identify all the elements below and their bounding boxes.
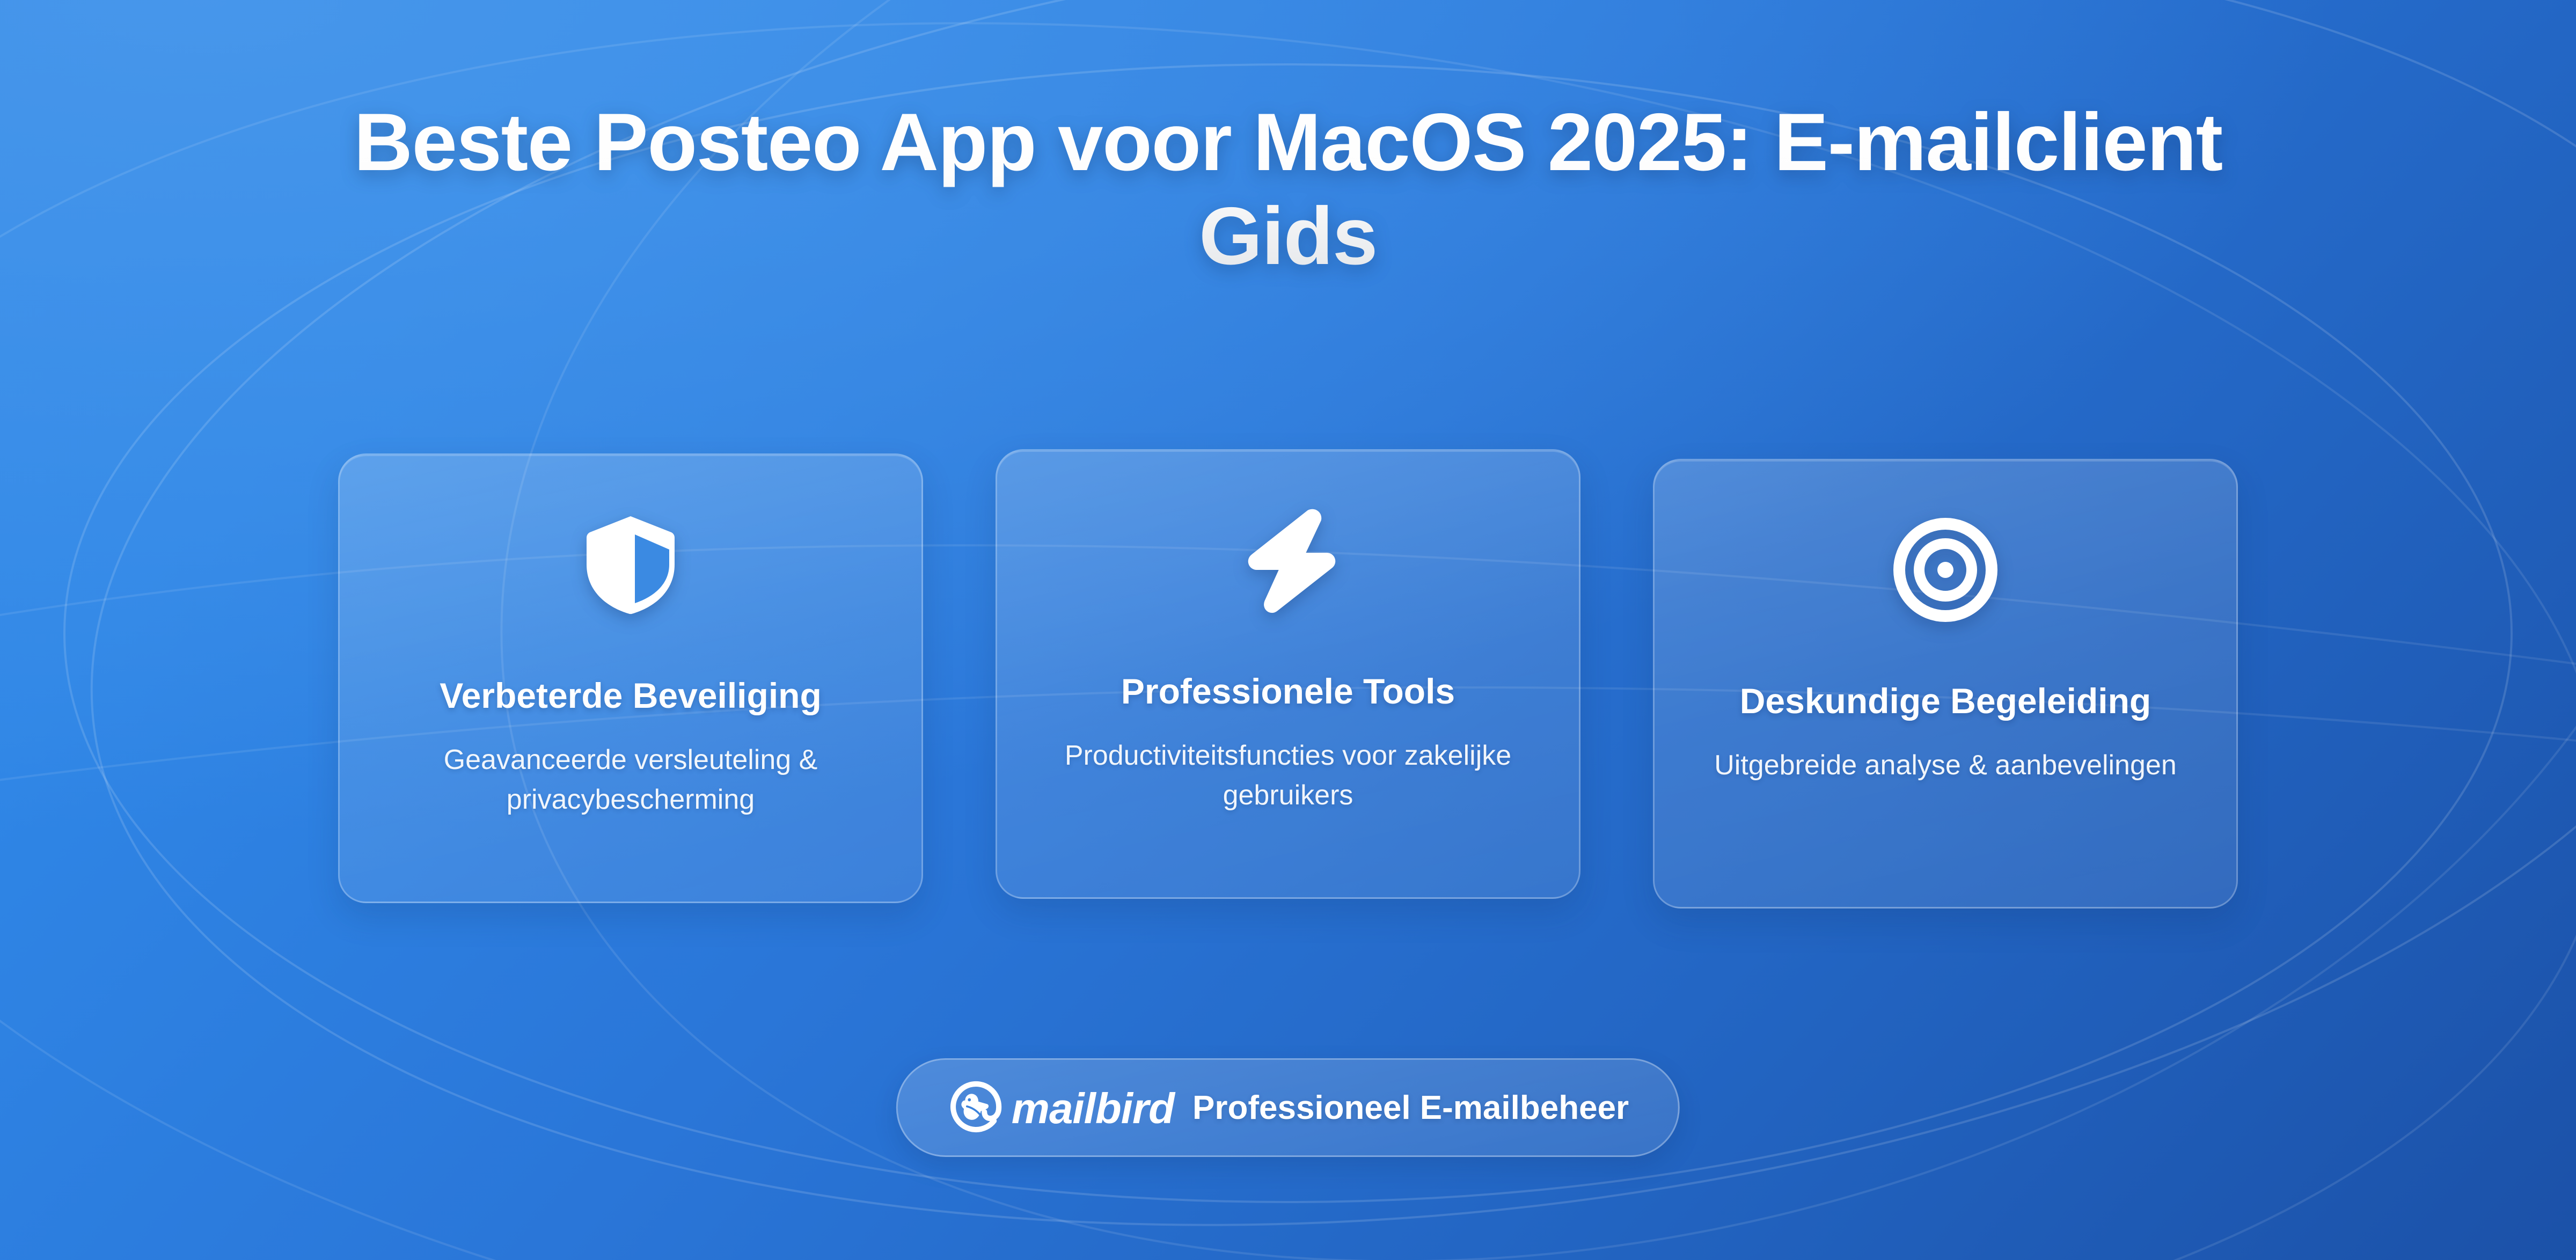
feature-card-description: Geavanceerde versleuteling & privacybesc…	[389, 741, 872, 820]
target-icon	[1892, 516, 1999, 624]
feature-card-title: Verbeterde Beveiliging	[440, 676, 822, 716]
feature-card-security[interactable]: Verbeterde Beveiliging Geavanceerde vers…	[338, 453, 923, 903]
brand-tagline: Professioneel E-mailbeheer	[1192, 1091, 1629, 1125]
brand-lockup: mailbird	[947, 1078, 1174, 1138]
hero-banner: Beste Posteo App voor MacOS 2025: E-mail…	[0, 0, 2576, 1260]
feature-card-title: Deskundige Begeleiding	[1740, 682, 2151, 721]
shield-icon	[577, 511, 684, 618]
feature-card-description: Uitgebreide analyse & aanbevelingen	[1714, 746, 2177, 786]
brand-wordmark: mailbird	[1012, 1087, 1174, 1130]
feature-card-list: Verbeterde Beveiliging Geavanceerde vers…	[338, 453, 2238, 909]
lightning-bolt-icon	[1234, 507, 1342, 614]
feature-card-title: Professionele Tools	[1121, 672, 1455, 712]
brand-footer-badge[interactable]: mailbird Professioneel E-mailbeheer	[896, 1058, 1680, 1157]
feature-card-guidance[interactable]: Deskundige Begeleiding Uitgebreide analy…	[1653, 459, 2238, 909]
page-title: Beste Posteo App voor MacOS 2025: E-mail…	[333, 96, 2243, 283]
feature-card-description: Productiviteitsfuncties voor zakelijke g…	[1046, 736, 1529, 816]
feature-card-tools[interactable]: Professionele Tools Productiviteitsfunct…	[996, 449, 1580, 899]
hero-title-block: Beste Posteo App voor MacOS 2025: E-mail…	[333, 96, 2243, 283]
mailbird-bird-logo-icon	[947, 1078, 1007, 1138]
